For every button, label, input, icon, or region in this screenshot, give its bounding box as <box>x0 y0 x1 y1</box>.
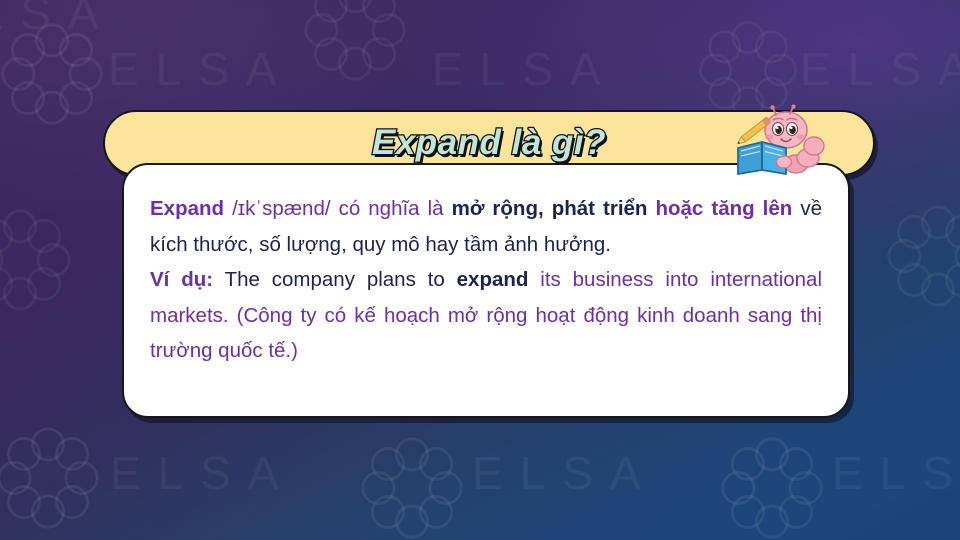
meaning-bold-1: mở rộng, phát triển <box>452 197 648 220</box>
example-paragraph: Ví dụ: The company plans to expand its b… <box>150 262 822 369</box>
meaning-bold-2: hoặc tăng lên <box>655 197 792 220</box>
term-label: Expand <box>150 197 224 220</box>
definition-card: Expand /ɪkˈspænd/ có nghĩa là mở rộng, p… <box>122 163 850 418</box>
definition-connector: có nghĩa là <box>331 197 452 220</box>
phonetic-transcription: /ɪkˈspænd/ <box>232 197 330 220</box>
definition-text-block: Expand /ɪkˈspænd/ có nghĩa là mở rộng, p… <box>150 191 822 369</box>
example-label: Ví dụ: <box>150 268 213 291</box>
bookworm-mascot-icon <box>724 104 834 176</box>
phonetic-label <box>224 197 232 220</box>
example-bold-word: expand <box>457 268 529 291</box>
example-part-1: The company plans to <box>213 268 457 291</box>
definition-paragraph: Expand /ɪkˈspænd/ có nghĩa là mở rộng, p… <box>150 191 822 262</box>
slide-root: ELSA ELSA ELSA <box>0 0 960 540</box>
